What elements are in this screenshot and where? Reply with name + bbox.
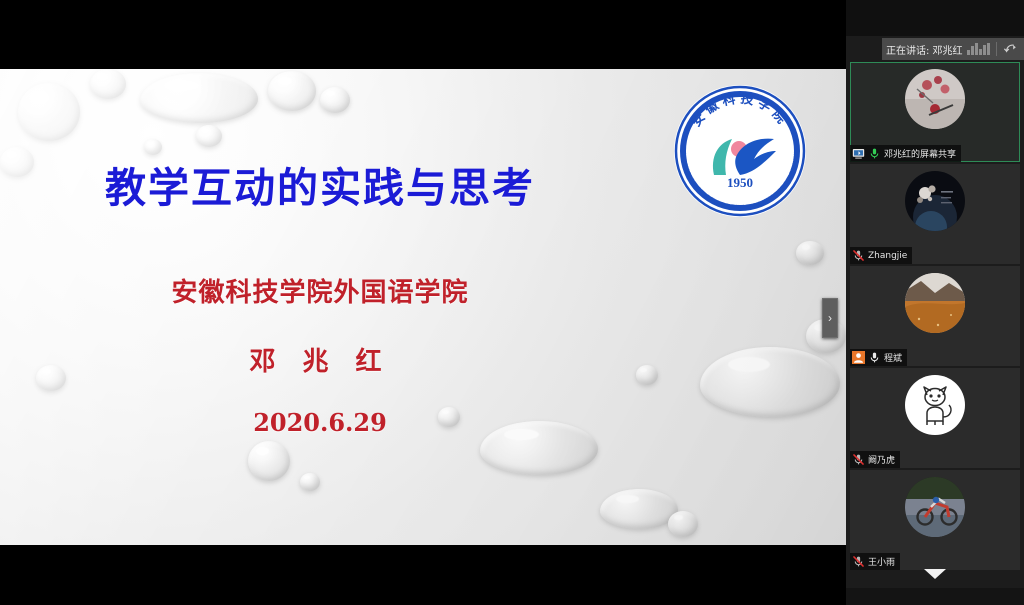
slide-title: 教学互动的实践与思考: [0, 154, 640, 214]
avatar: [905, 375, 965, 435]
rail-top-strip: [846, 0, 1024, 36]
svg-text:1950: 1950: [727, 175, 753, 190]
tile-label: Zhangjie: [850, 247, 912, 264]
tile-label: 阚乃虎: [850, 451, 900, 468]
participant-rail: 正在讲话: 邓兆红;: [846, 0, 1024, 605]
mic-muted-icon: [852, 453, 865, 466]
mic-on-icon: [868, 351, 881, 364]
participant-tiles: 邓兆红的屏幕共享: [846, 62, 1024, 562]
participant-tile-host[interactable]: 程斌: [850, 266, 1020, 366]
tile-label: 邓兆红的屏幕共享: [850, 145, 961, 162]
participant-name: 阚乃虎: [868, 453, 895, 466]
speaking-status-text: 正在讲话: 邓兆红;: [886, 42, 963, 57]
slide-date: 2020.6.29: [0, 408, 640, 437]
avatar: [905, 273, 965, 333]
participant-tile-kannaihu[interactable]: 阚乃虎: [850, 368, 1020, 468]
divider: [996, 42, 997, 56]
participant-tile-wangxiaoyu[interactable]: 王小雨: [850, 470, 1020, 570]
avatar: [905, 69, 965, 129]
mic-muted-icon: [852, 249, 865, 262]
participant-name: 程斌: [884, 351, 902, 364]
meeting-screen-share-window: 安徽科技学院 UNIVERSITY OF SCIENCE AND TECHNOL…: [0, 0, 1024, 605]
shared-screen-area: 安徽科技学院 UNIVERSITY OF SCIENCE AND TECHNOL…: [0, 0, 846, 605]
rail-bottom-strip: [846, 588, 1024, 605]
tile-label: 程斌: [850, 349, 907, 366]
host-badge-icon: [852, 351, 865, 364]
participant-name: 邓兆红的屏幕共享: [884, 147, 956, 160]
participant-name: Zhangjie: [868, 251, 907, 261]
avatar: [905, 477, 965, 537]
slide-speaker-name: 邓 兆 红: [0, 341, 640, 378]
participant-tile-screen-share[interactable]: 邓兆红的屏幕共享: [850, 62, 1020, 162]
speaking-status-bar: 正在讲话: 邓兆红;: [882, 38, 1024, 60]
next-slide-button[interactable]: ›: [822, 298, 838, 338]
chevron-down-icon[interactable]: [846, 560, 1024, 588]
anhui-university-seal-logo: 安徽科技学院 UNIVERSITY OF SCIENCE AND TECHNOL…: [670, 81, 810, 221]
presentation-slide[interactable]: 安徽科技学院 UNIVERSITY OF SCIENCE AND TECHNOL…: [0, 69, 846, 545]
screen-share-icon: [852, 147, 865, 160]
avatar: [905, 171, 965, 231]
slide-organization: 安徽科技学院外国语学院: [0, 272, 640, 309]
mic-on-icon: [868, 147, 881, 160]
volume-level-icon: [967, 43, 990, 55]
collapse-arrow-icon[interactable]: [1003, 40, 1020, 58]
participant-tile-zhangjie[interactable]: Zhangjie: [850, 164, 1020, 264]
